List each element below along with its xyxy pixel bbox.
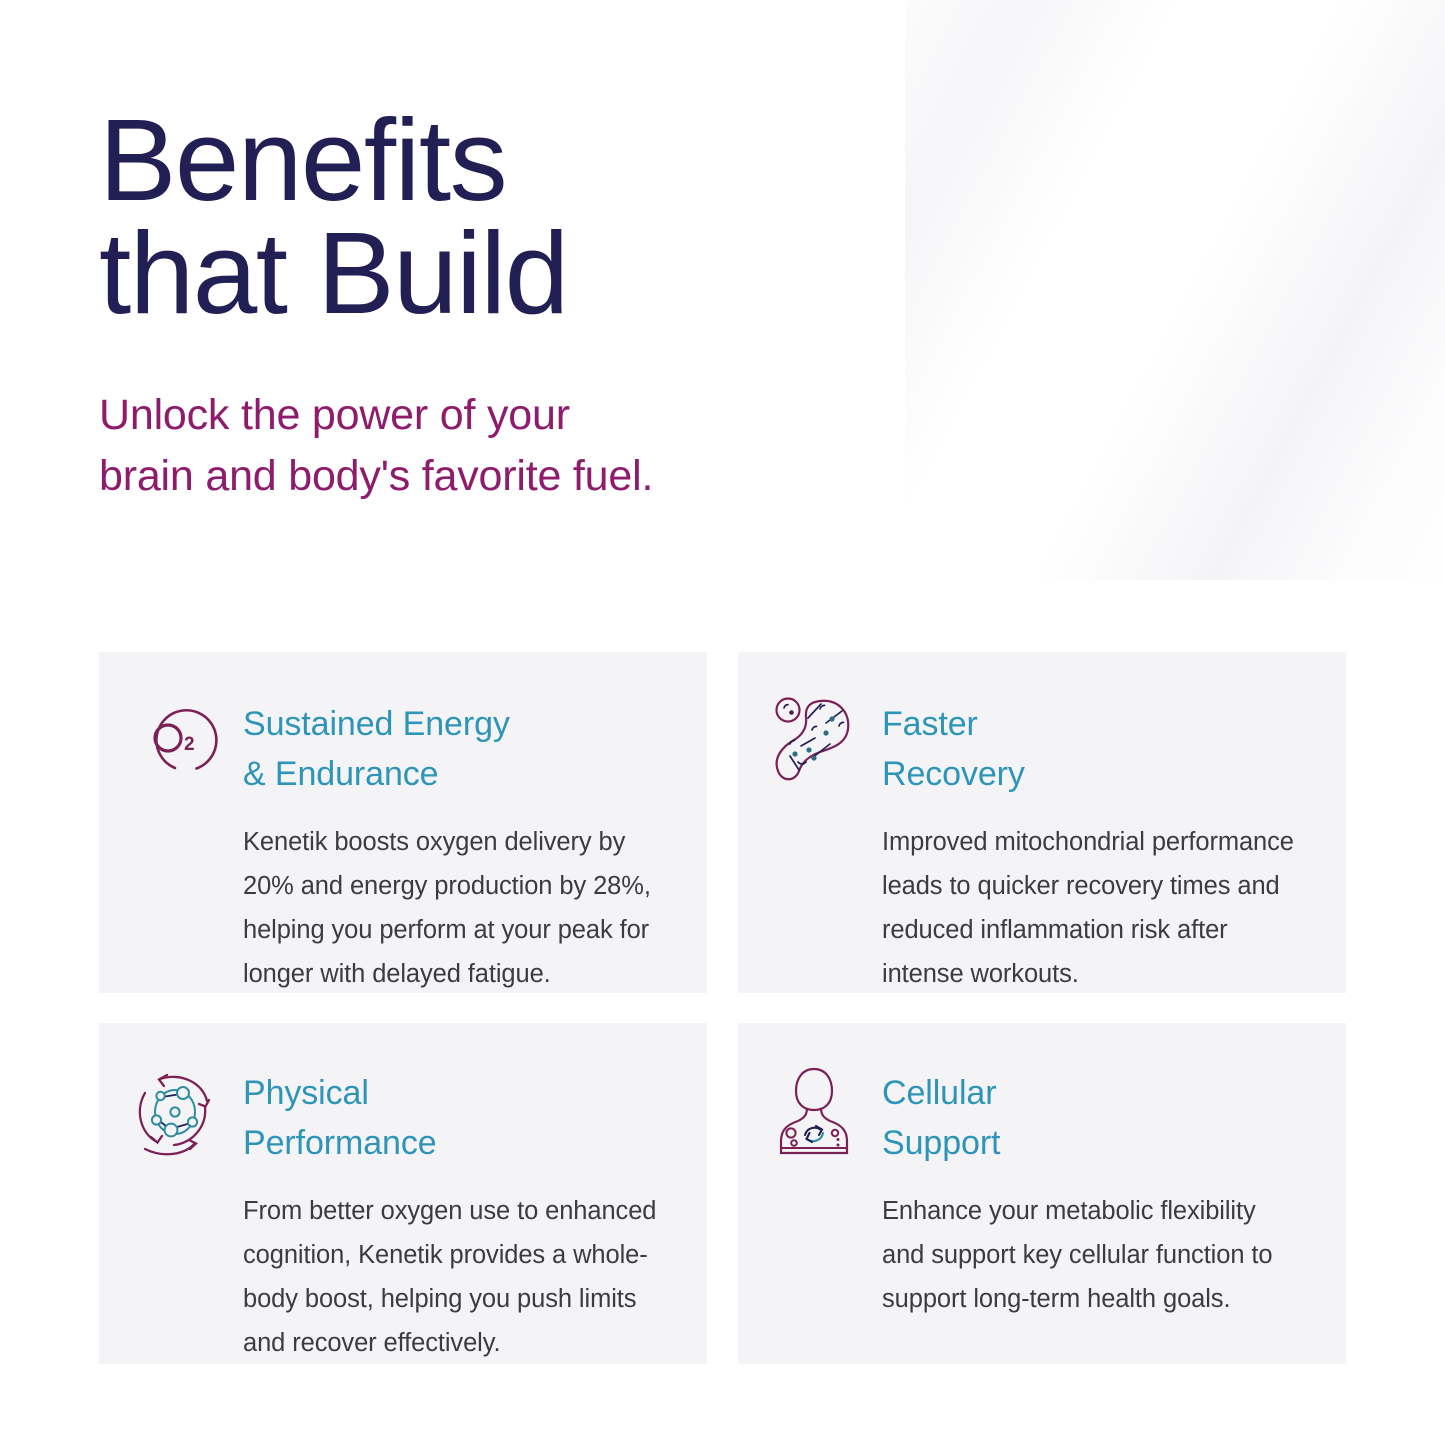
person-cellular-renewal-icon [768, 1063, 860, 1161]
mitochondria-icon [768, 692, 860, 790]
page-subtitle: Unlock the power of your brain and body'… [99, 329, 999, 507]
card-header: Physical Performance [129, 1063, 663, 1168]
benefit-card-cellular-support: Cellular Support Enhance your metabolic … [738, 1023, 1346, 1364]
benefits-infographic: Benefits that Build Unlock the power of … [0, 0, 1445, 1445]
benefit-card-physical-performance: Physical Performance From better oxygen … [99, 1023, 707, 1364]
benefits-grid: 2 Sustained Energy & Endurance Kenetik b… [99, 652, 1346, 1364]
card-body: Kenetik boosts oxygen delivery by 20% an… [129, 799, 663, 993]
card-body: Enhance your metabolic flexibility and s… [768, 1168, 1302, 1322]
benefit-card-sustained-energy: 2 Sustained Energy & Endurance Kenetik b… [99, 652, 707, 993]
molecule-cycle-icon [129, 1063, 221, 1161]
benefit-card-faster-recovery: Faster Recovery Improved mitochondrial p… [738, 652, 1346, 993]
page-title: Benefits that Build [99, 104, 999, 329]
header-block: Benefits that Build Unlock the power of … [99, 104, 999, 507]
card-title: Cellular Support [882, 1063, 1000, 1168]
card-header: Cellular Support [768, 1063, 1302, 1168]
card-header: 2 Sustained Energy & Endurance [129, 692, 663, 799]
svg-text:2: 2 [184, 734, 195, 755]
card-title: Faster Recovery [882, 692, 1025, 799]
card-title: Sustained Energy & Endurance [243, 692, 510, 799]
card-body: Improved mitochondrial performance leads… [768, 799, 1302, 993]
card-body: From better oxygen use to enhanced cogni… [129, 1168, 663, 1364]
card-header: Faster Recovery [768, 692, 1302, 799]
oxygen-o2-icon: 2 [129, 692, 221, 790]
card-title: Physical Performance [243, 1063, 437, 1168]
